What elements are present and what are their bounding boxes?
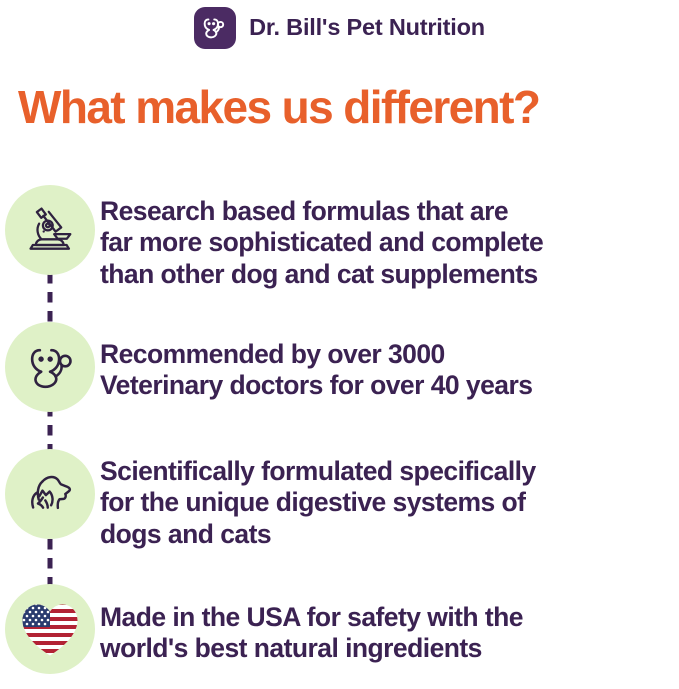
- brand-name: Dr. Bill's Pet Nutrition: [249, 16, 485, 40]
- list-item: Scientifically formulated specifically f…: [0, 449, 679, 584]
- dog-and-cat-icon: [5, 449, 95, 539]
- list-item: Made in the USA for safety with the worl…: [0, 584, 679, 684]
- feature-icon-column: [0, 449, 100, 539]
- feature-text-line: than other dog and cat supplements: [100, 259, 543, 290]
- page-title: What makes us different?: [0, 84, 539, 131]
- microscope-icon: [5, 185, 95, 275]
- feature-text-line: world's best natural ingredients: [100, 633, 523, 664]
- feature-icon-column: [0, 322, 100, 412]
- feature-list: Research based formulas that are far mor…: [0, 185, 679, 684]
- feature-icon-column: [0, 584, 100, 674]
- feature-text: Recommended by over 3000 Veterinary doct…: [100, 322, 536, 402]
- feature-text-line: dogs and cats: [100, 519, 536, 550]
- feature-text-line: for the unique digestive systems of: [100, 487, 536, 518]
- feature-icon-column: [0, 185, 100, 275]
- feature-text-line: Veterinary doctors for over 40 years: [100, 370, 532, 401]
- usa-flag-heart-icon: [5, 584, 95, 674]
- stethoscope-pet-face-icon: [194, 7, 236, 49]
- feature-text: Made in the USA for safety with the worl…: [100, 584, 527, 665]
- feature-text-line: Made in the USA for safety with the: [100, 602, 523, 633]
- list-item: Recommended by over 3000 Veterinary doct…: [0, 322, 679, 449]
- feature-text-line: Recommended by over 3000: [100, 339, 532, 370]
- feature-text-line: Research based formulas that are: [100, 196, 543, 227]
- feature-text-line: far more sophisticated and complete: [100, 227, 543, 258]
- stethoscope-pet-face-icon: [5, 322, 95, 412]
- brand-header: Dr. Bill's Pet Nutrition: [0, 0, 679, 48]
- timeline-connector: [48, 539, 53, 587]
- feature-text-line: Scientifically formulated specifically: [100, 456, 536, 487]
- timeline-connector: [48, 273, 53, 323]
- list-item: Research based formulas that are far mor…: [0, 185, 679, 322]
- feature-text: Scientifically formulated specifically f…: [100, 449, 540, 550]
- feature-text: Research based formulas that are far mor…: [100, 185, 547, 290]
